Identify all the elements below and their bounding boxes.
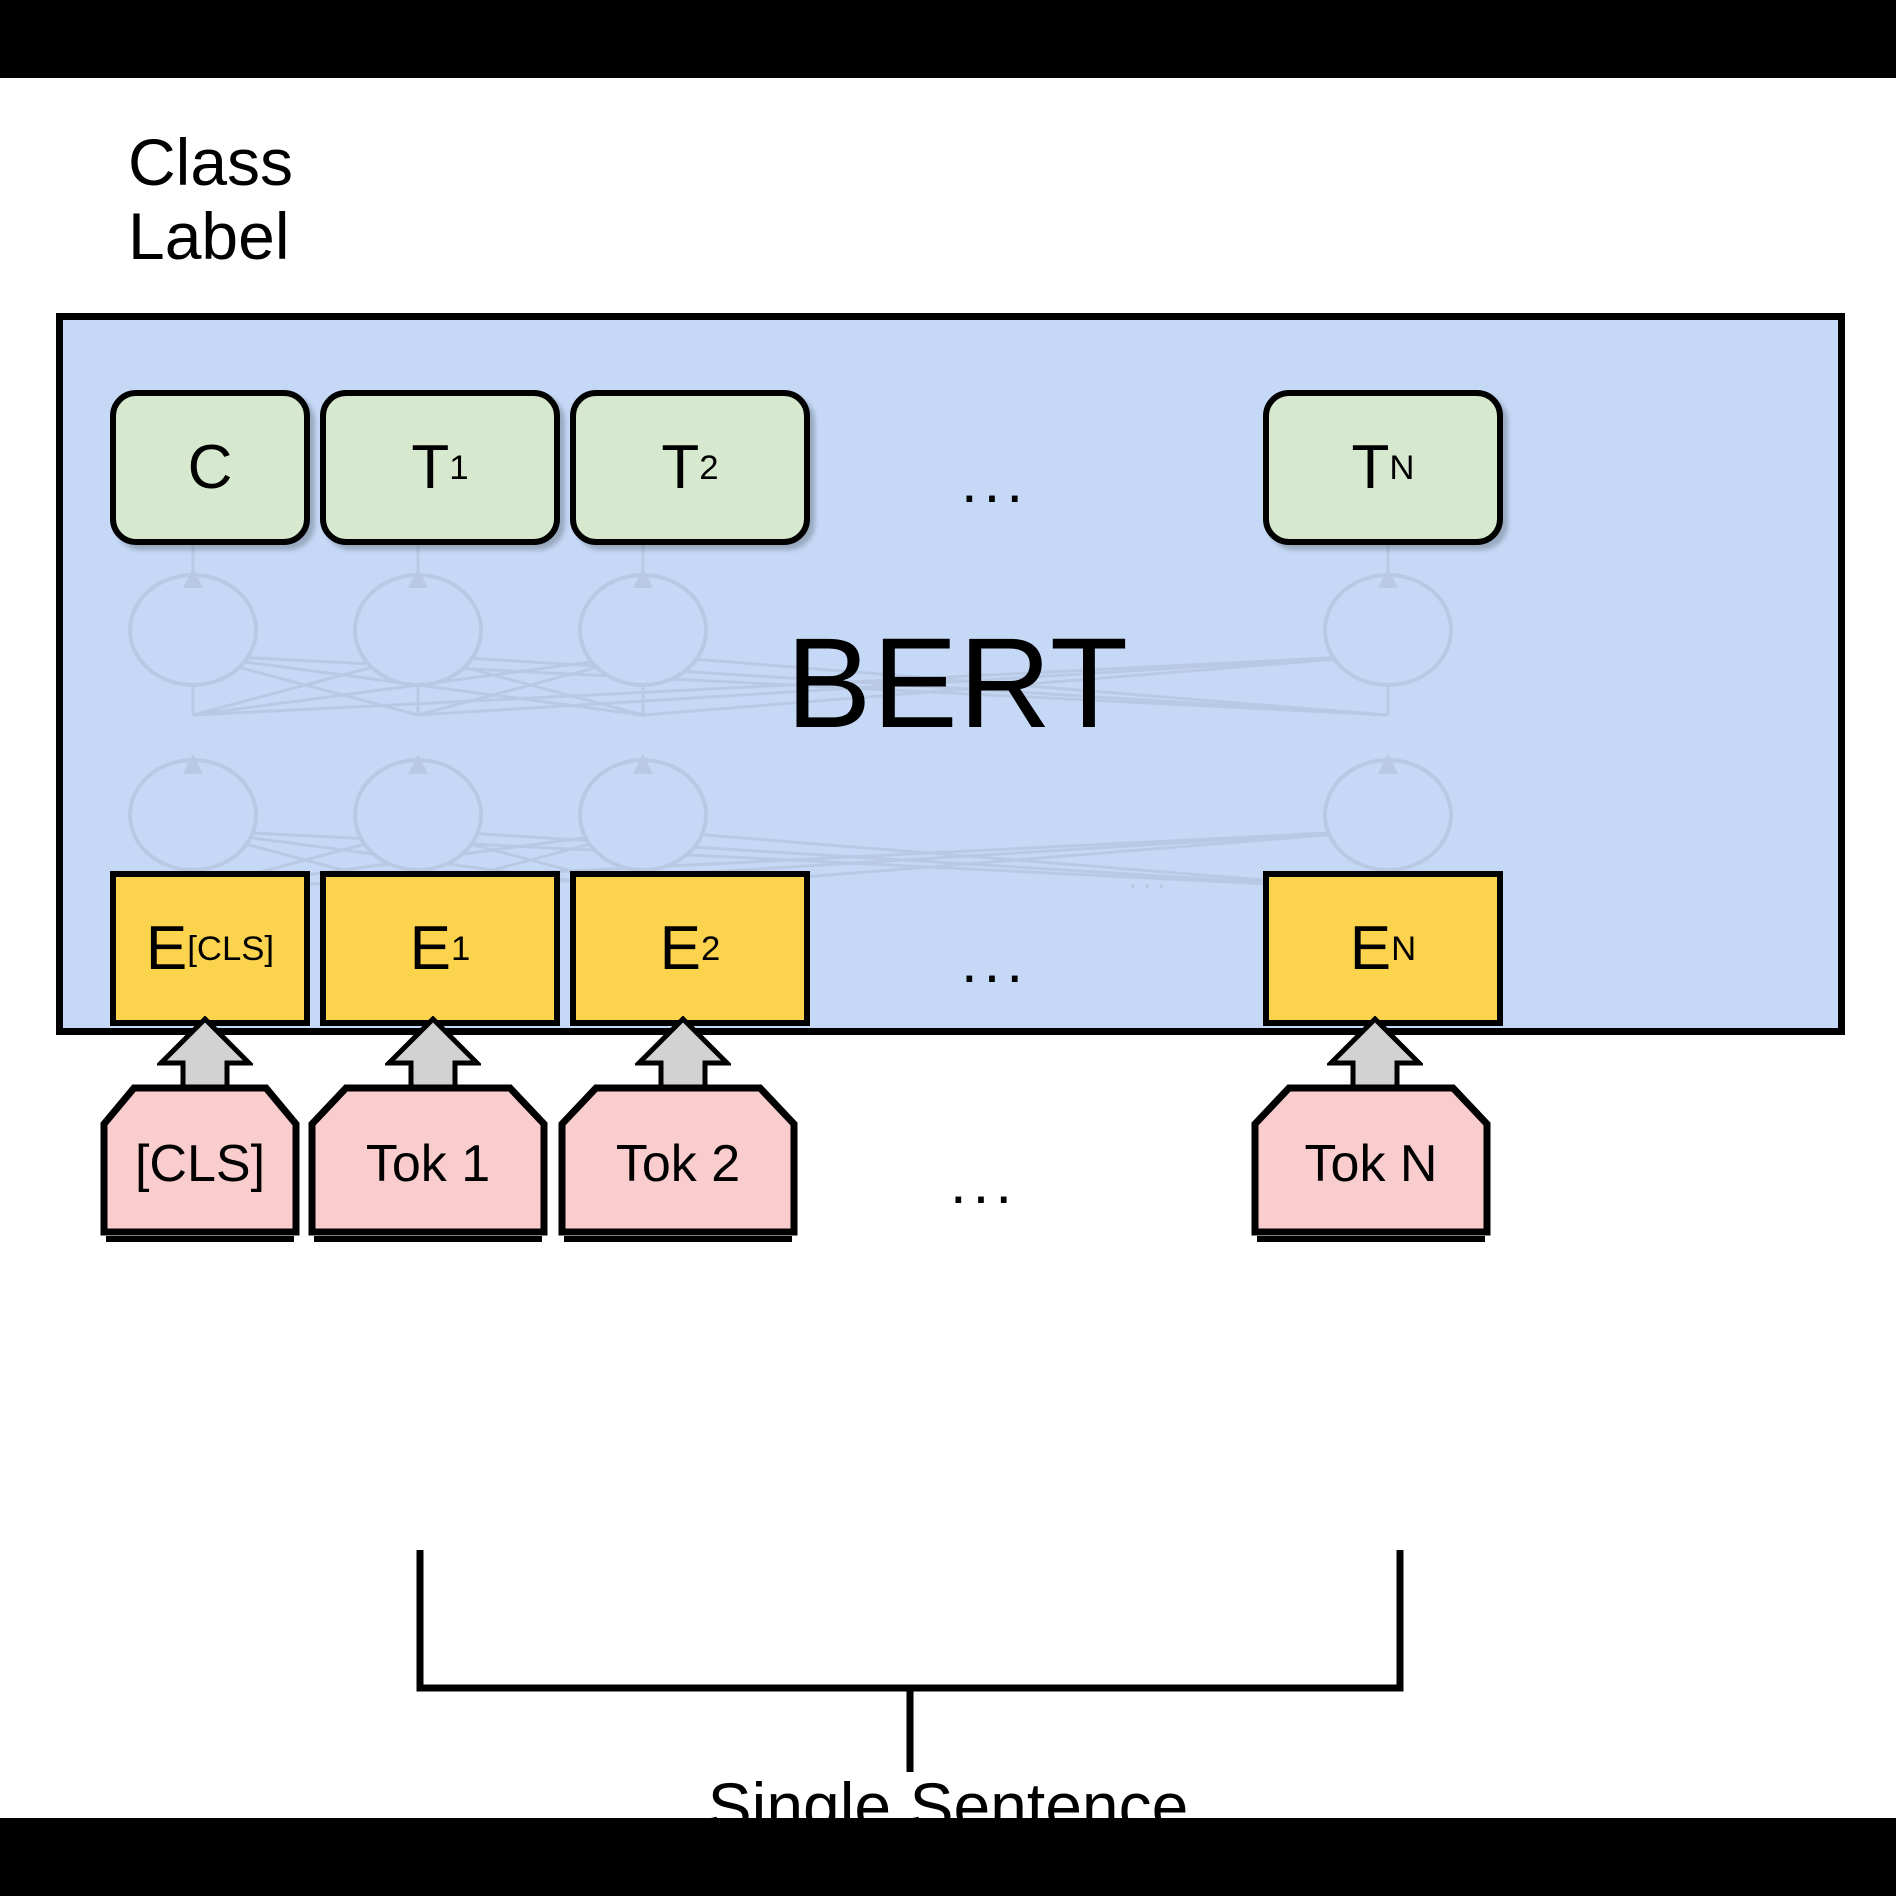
embedding-box-en: EN [1263, 871, 1503, 1026]
sentence-bracket-icon [380, 1550, 1440, 1772]
input-token-tok2: Tok 2 [558, 1084, 798, 1244]
embedding-box-en-label: E [1350, 913, 1391, 984]
diagram-canvas: Class Label [0, 0, 1896, 1896]
neuron-row-ellipsis-top: ... [1128, 676, 1171, 710]
output-row-ellipsis: ... [961, 452, 1029, 512]
embedding-box-cls: E[CLS] [110, 871, 310, 1026]
embedding-box-e1: E1 [320, 871, 560, 1026]
input-token-tokn: Tok N [1251, 1084, 1491, 1244]
input-token-tok1-label: Tok 1 [366, 1134, 490, 1194]
output-box-c-label: C [188, 432, 233, 503]
input-token-tok1: Tok 1 [308, 1084, 548, 1244]
output-box-t2: T2 [570, 390, 810, 545]
output-box-t1: T1 [320, 390, 560, 545]
input-token-tok2-label: Tok 2 [616, 1134, 740, 1194]
input-token-cls: [CLS] [100, 1084, 300, 1244]
neuron-row-ellipsis-bottom: ... [1128, 860, 1171, 894]
embedding-box-cls-label: E [146, 913, 187, 984]
input-token-tokn-label: Tok N [1305, 1134, 1438, 1194]
output-box-t2-label: T [661, 432, 699, 503]
output-box-t1-label: T [411, 432, 449, 503]
embedding-row-ellipsis: ... [961, 932, 1029, 992]
bert-title: BERT [63, 610, 1852, 757]
input-row-ellipsis: ... [950, 1153, 1018, 1213]
output-box-tn-label: T [1352, 432, 1390, 503]
embedding-box-e2-label: E [660, 913, 701, 984]
input-token-cls-label: [CLS] [135, 1134, 265, 1194]
embedding-box-e2: E2 [570, 871, 810, 1026]
output-box-c: C [110, 390, 310, 545]
single-sentence-label: Single Sentence [0, 1768, 1896, 1844]
diagram-page: Class Label [0, 78, 1896, 1818]
bert-encoder-box: BERT ... ... C T1 T2 TN ... E[CLS] [56, 313, 1845, 1035]
class-label-text: Class Label [128, 126, 458, 274]
embedding-box-e1-label: E [410, 913, 451, 984]
output-box-tn: TN [1263, 390, 1503, 545]
